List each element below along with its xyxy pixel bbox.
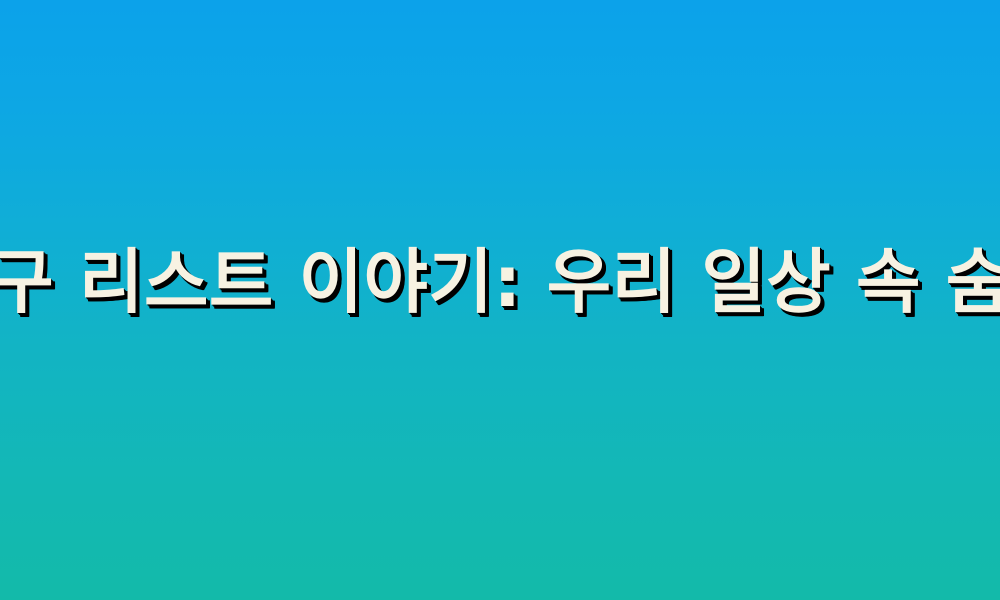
title-card: 수구 리스트 이야기: 우리 일상 속 숨은 (0, 0, 1000, 600)
gradient-background (0, 0, 1000, 600)
